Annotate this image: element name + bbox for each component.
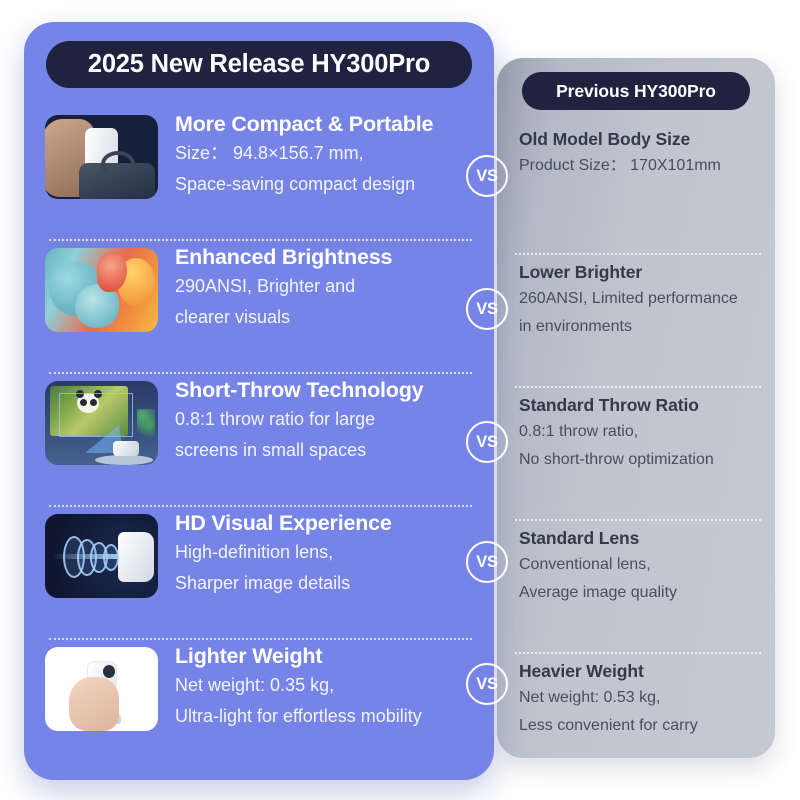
- new-row-line1: Size： 94.8×156.7 mm,: [175, 138, 433, 169]
- vs-badge: VS: [466, 663, 508, 705]
- previous-row-line1: Conventional lens,: [519, 551, 761, 579]
- previous-row-brightness: Lower Brighter 260ANSI, Limited performa…: [497, 253, 775, 386]
- comparison-infographic: Previous HY300Pro Old Model Body Size Pr…: [0, 0, 800, 800]
- vs-badge: VS: [466, 155, 508, 197]
- new-row-heading: Lighter Weight: [175, 642, 422, 670]
- previous-row-heading: Standard Lens: [519, 525, 761, 551]
- new-row-line1: 0.8:1 throw ratio for large: [175, 404, 423, 435]
- previous-row-heading: Lower Brighter: [519, 259, 761, 285]
- previous-row-heading: Standard Throw Ratio: [519, 392, 761, 418]
- hand-holding-projector-photo: [45, 647, 158, 731]
- new-row-line1: Net weight: 0.35 kg,: [175, 670, 422, 701]
- new-row-heading: More Compact & Portable: [175, 110, 433, 138]
- new-row-line2: clearer visuals: [175, 302, 392, 333]
- previous-row-body-size: Old Model Body Size Product Size： 170X10…: [497, 120, 775, 253]
- previous-row-throw-ratio: Standard Throw Ratio 0.8:1 throw ratio, …: [497, 386, 775, 519]
- vs-badge: VS: [466, 288, 508, 330]
- previous-model-rows: Old Model Body Size Product Size： 170X10…: [497, 120, 775, 785]
- new-row-short-throw: Short-Throw Technology 0.8:1 throw ratio…: [24, 372, 494, 505]
- new-row-heading: HD Visual Experience: [175, 509, 392, 537]
- new-row-brightness: Enhanced Brightness 290ANSI, Brighter an…: [24, 239, 494, 372]
- previous-row-line2: in environments: [519, 313, 761, 341]
- colorful-flowers-photo: [45, 248, 158, 332]
- previous-row-line2: Average image quality: [519, 579, 761, 607]
- previous-model-title: Previous HY300Pro: [522, 72, 750, 110]
- previous-row-line1: 260ANSI, Limited performance: [519, 285, 761, 313]
- previous-row-line1: Net weight: 0.53 kg,: [519, 684, 761, 712]
- previous-row-line2: Less convenient for carry: [519, 712, 761, 740]
- previous-row-heading: Heavier Weight: [519, 658, 761, 684]
- new-model-panel: 2025 New Release HY300Pro More Compact &…: [24, 22, 494, 780]
- new-row-heading: Short-Throw Technology: [175, 376, 423, 404]
- previous-row-weight: Heavier Weight Net weight: 0.53 kg, Less…: [497, 652, 775, 785]
- previous-row-line2: No short-throw optimization: [519, 446, 761, 474]
- new-row-hd-visual: HD Visual Experience High-definition len…: [24, 505, 494, 638]
- panda-projection-photo: [45, 381, 158, 465]
- lens-elements-photo: [45, 514, 158, 598]
- new-row-line2: Ultra-light for effortless mobility: [175, 701, 422, 732]
- vs-badge: VS: [466, 421, 508, 463]
- new-row-line1: High-definition lens,: [175, 537, 392, 568]
- new-row-line2: Space-saving compact design: [175, 169, 433, 200]
- new-model-title: 2025 New Release HY300Pro: [46, 41, 472, 88]
- previous-row-line1: 0.8:1 throw ratio,: [519, 418, 761, 446]
- new-row-line1: 290ANSI, Brighter and: [175, 271, 392, 302]
- new-row-compact: More Compact & Portable Size： 94.8×156.7…: [24, 106, 494, 239]
- new-row-line2: Sharper image details: [175, 568, 392, 599]
- previous-row-heading: Old Model Body Size: [519, 126, 761, 152]
- new-row-heading: Enhanced Brightness: [175, 243, 392, 271]
- previous-row-lens: Standard Lens Conventional lens, Average…: [497, 519, 775, 652]
- previous-model-panel: Previous HY300Pro Old Model Body Size Pr…: [497, 58, 775, 758]
- new-row-line2: screens in small spaces: [175, 435, 423, 466]
- new-row-weight: Lighter Weight Net weight: 0.35 kg, Ultr…: [24, 638, 494, 771]
- vs-badge: VS: [466, 541, 508, 583]
- projector-in-bag-photo: [45, 115, 158, 199]
- previous-row-line1: Product Size： 170X101mm: [519, 152, 761, 180]
- new-model-rows: More Compact & Portable Size： 94.8×156.7…: [24, 106, 494, 771]
